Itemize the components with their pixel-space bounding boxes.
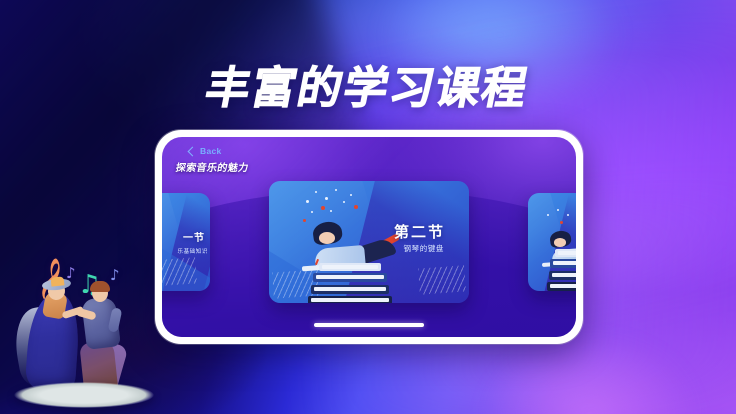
device-screen: Back 探索音乐的魅力 一节 乐基础知识 <box>162 137 576 337</box>
book-stack <box>308 260 392 303</box>
tablet-device-frame: Back 探索音乐的魅力 一节 乐基础知识 <box>155 130 583 344</box>
dancing-couple-illustration: 𝄞 ♪ ♫ ♪ ♩ <box>6 246 166 414</box>
page-title: 丰富的学习课程 <box>0 52 736 116</box>
back-button[interactable]: Back <box>189 146 222 156</box>
course-card-previous[interactable]: 一节 乐基础知识 <box>162 193 210 291</box>
back-button-label: Back <box>200 146 222 156</box>
dancer-platform-base <box>14 382 154 408</box>
card-stripe-lines <box>162 257 197 286</box>
poster-background: 丰富的学习课程 Back 探索音乐的魅力 一节 乐基 <box>0 0 736 414</box>
course-card-current[interactable]: 第二节 钢琴的键盘 <box>269 181 469 303</box>
card-stripe-lines-right <box>418 265 466 294</box>
course-card-title: 一节 <box>183 229 205 244</box>
page-title-text: 丰富的学习课程 <box>201 52 535 116</box>
music-note-icon-3: ♪ <box>110 268 120 283</box>
course-carousel[interactable]: 一节 乐基础知识 <box>162 181 576 306</box>
person-reading-on-books-illustration <box>536 213 576 291</box>
home-indicator-bar <box>314 323 424 327</box>
music-note-icon-1: ♪ <box>66 266 76 281</box>
course-card-next[interactable] <box>528 193 576 291</box>
screen-subtitle: 探索音乐的魅力 <box>175 159 250 174</box>
course-card-subtitle: 乐基础知识 <box>177 247 208 255</box>
dancer-woman-hat-top <box>51 276 65 286</box>
chevron-left-icon <box>188 146 198 156</box>
dancer-man-hair <box>90 281 110 292</box>
book-stack <box>547 246 576 291</box>
person-reading-on-books-illustration <box>293 197 403 303</box>
course-card-title: 第二节 <box>394 221 445 242</box>
course-card-subtitle: 钢琴的键盘 <box>404 243 445 254</box>
